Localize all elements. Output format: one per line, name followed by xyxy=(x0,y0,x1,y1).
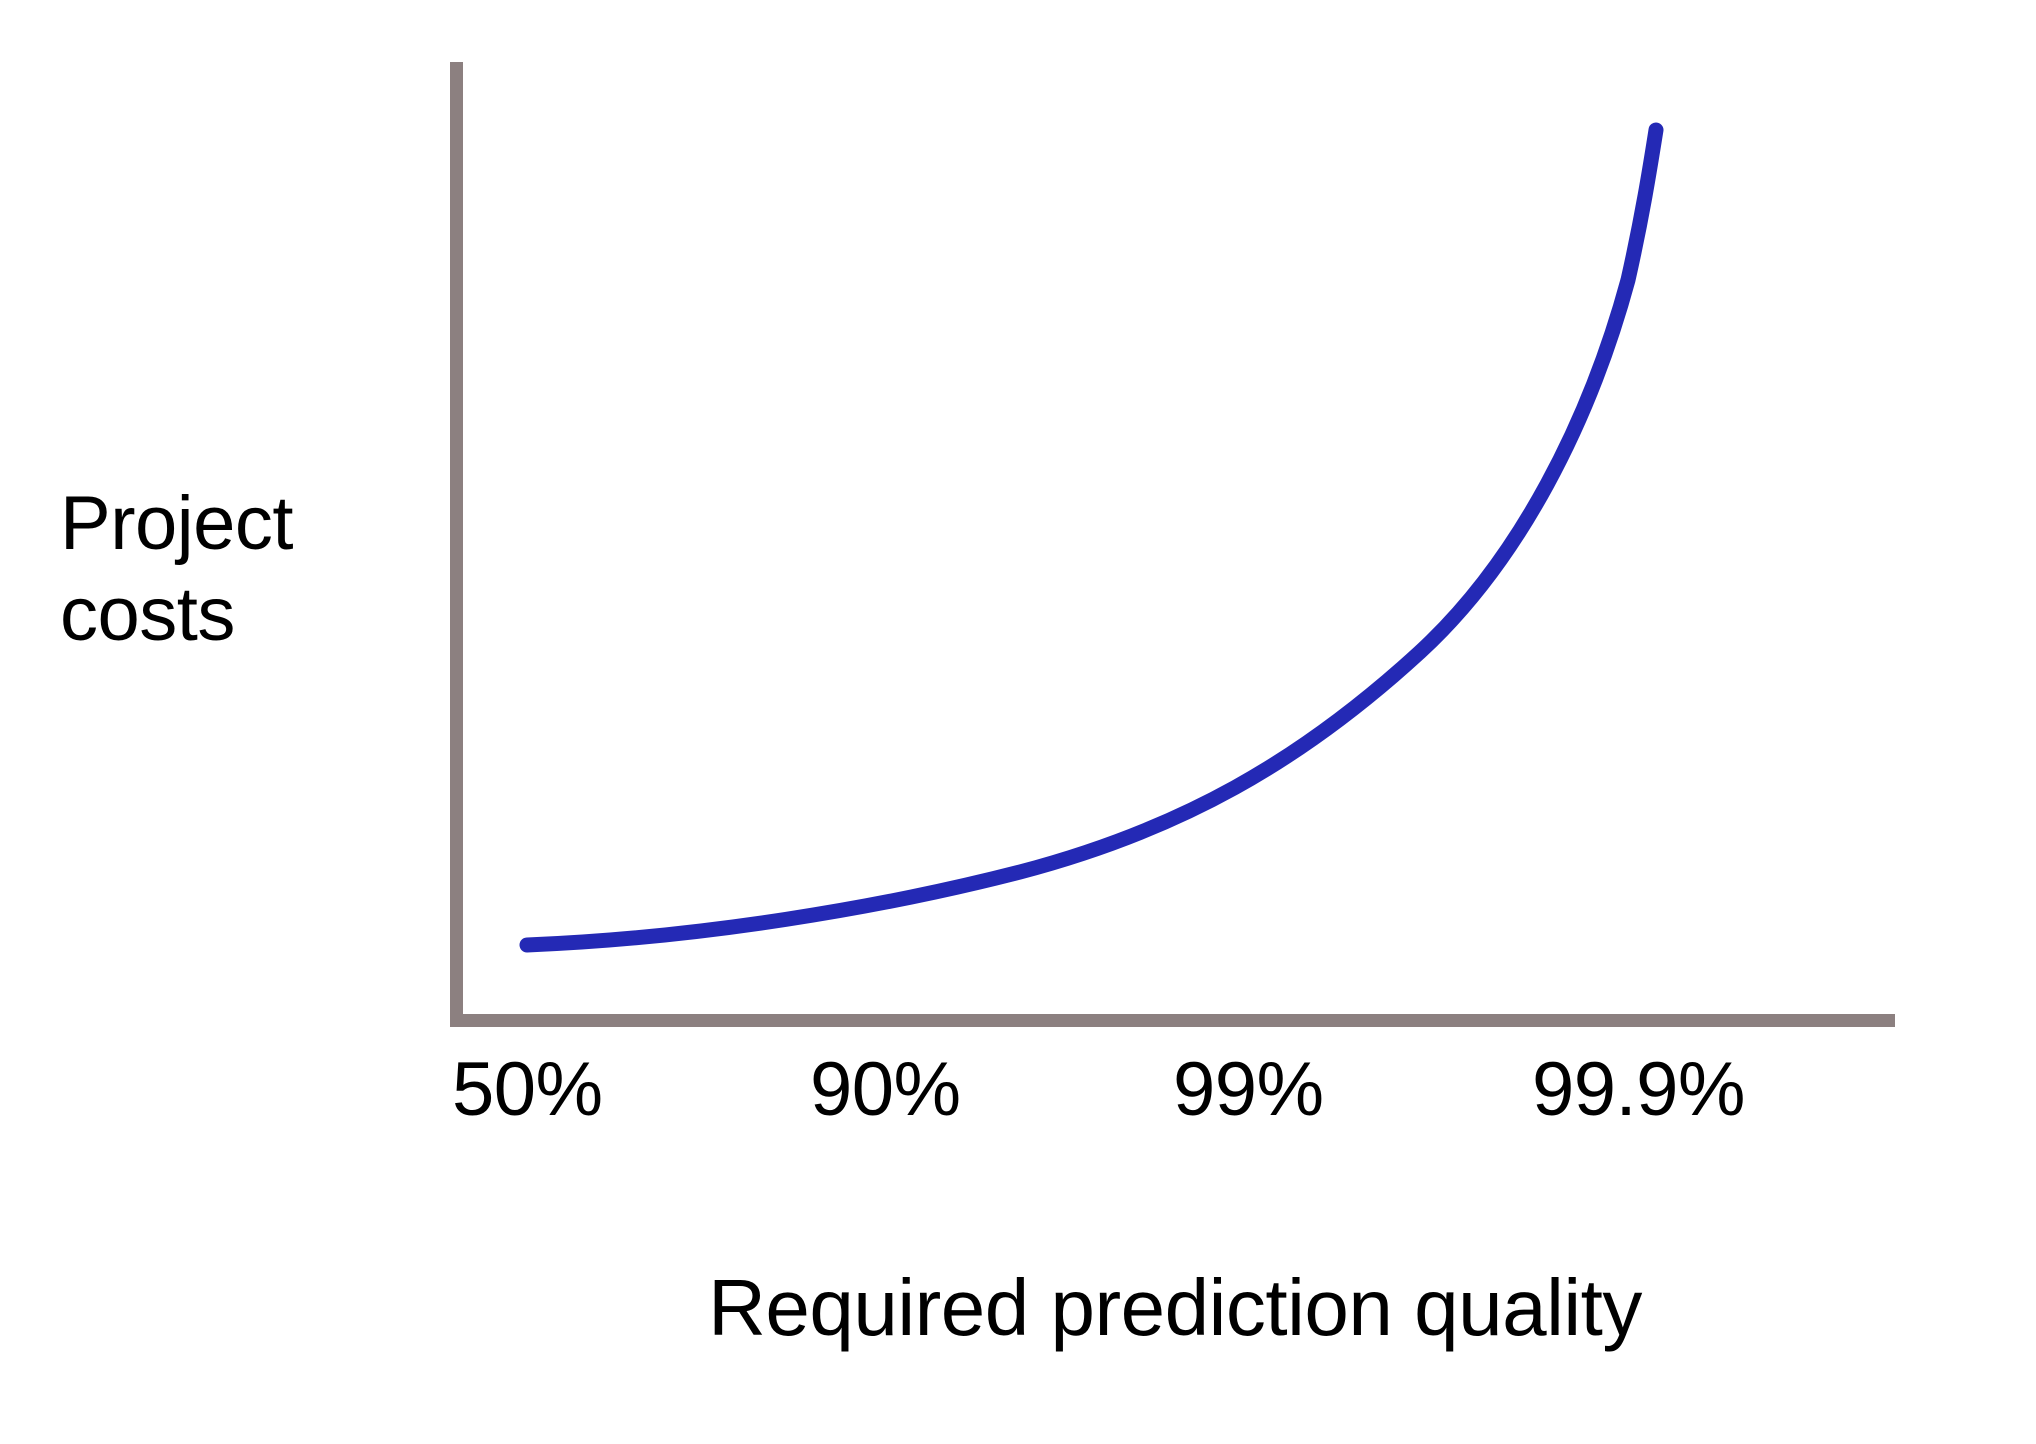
cost-curve-svg xyxy=(0,0,2036,1444)
x-axis-title: Required prediction quality xyxy=(450,1262,1900,1354)
x-tick-label-99-9: 99.9% xyxy=(1532,1052,1745,1128)
chart-canvas: Project costs 50% 90% 99% 99.9% Required… xyxy=(0,0,2036,1444)
x-axis-line xyxy=(450,1014,1895,1027)
y-axis-label: Project costs xyxy=(60,478,400,660)
cost-curve-path xyxy=(527,130,1656,945)
x-tick-label-90: 90% xyxy=(810,1052,961,1128)
x-tick-label-99: 99% xyxy=(1173,1052,1324,1128)
x-tick-label-50: 50% xyxy=(452,1052,603,1128)
y-axis-line xyxy=(450,62,463,1027)
